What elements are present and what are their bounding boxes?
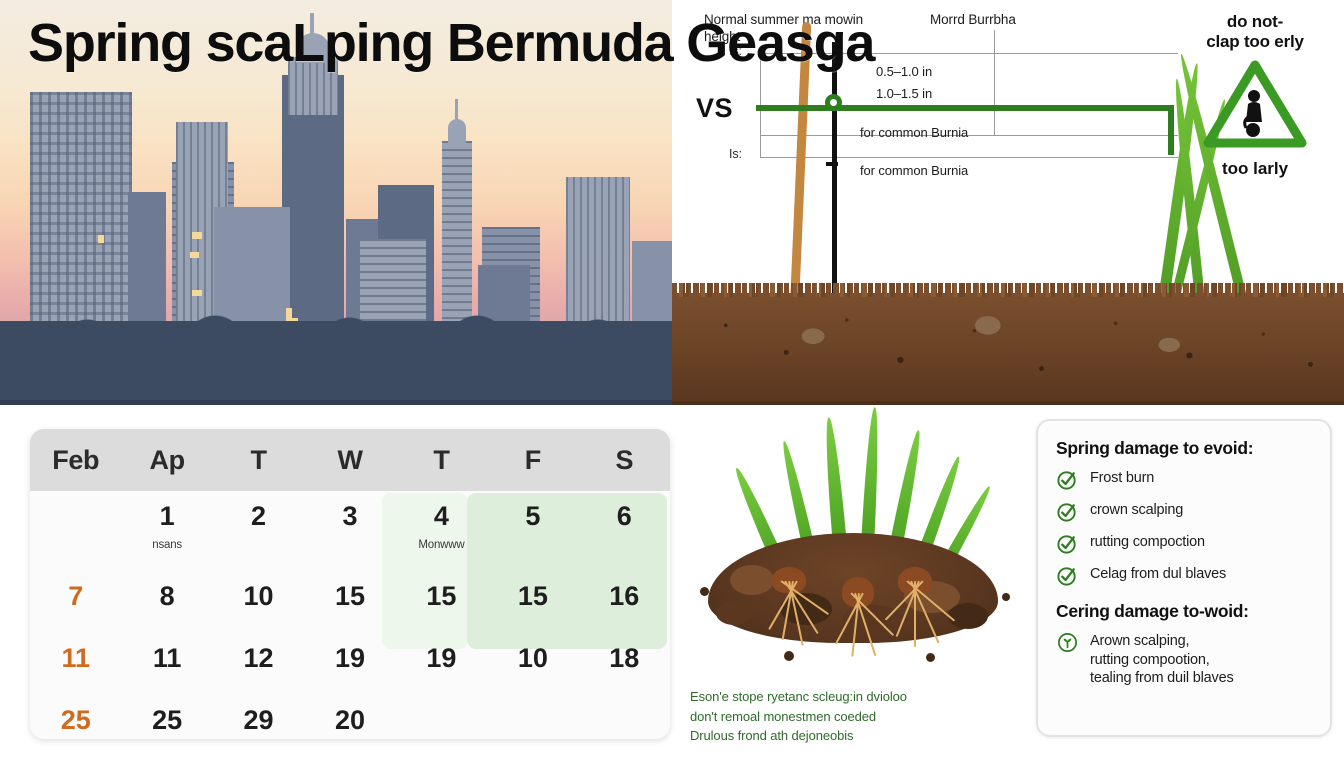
- green-node-marker: [825, 94, 842, 111]
- tower-spire: [455, 99, 458, 121]
- checklist-item-line-3: tealing from duil blaves: [1090, 670, 1234, 686]
- check-circle-icon: [1056, 532, 1079, 555]
- soil-speck: [700, 587, 709, 596]
- calendar-cell[interactable]: 10: [213, 571, 304, 633]
- checklist-item-label: crown scalping: [1090, 500, 1183, 520]
- roots-caption-line-3: Drulous frond ath dejoneobis: [690, 726, 1020, 746]
- black-stem-indicator: [832, 42, 837, 310]
- calendar-day-number: 29: [244, 707, 274, 734]
- grass-roots-illustration: [672, 415, 1032, 685]
- roots-caption-line-2: don't remoal monestmen coeded: [690, 707, 1020, 727]
- black-tick-marker: [826, 162, 838, 166]
- calendar-cell[interactable]: 11: [121, 633, 212, 695]
- calendar-cell[interactable]: 11: [30, 633, 121, 695]
- calendar-day-number: 3: [342, 503, 357, 530]
- calendar-header-cell: Feb: [30, 445, 121, 476]
- calendar-day-number: 11: [153, 645, 182, 672]
- calendar-cell[interactable]: 19: [396, 633, 487, 695]
- calendar-day-number: 10: [244, 583, 274, 610]
- calendar-day-number: 7: [68, 583, 83, 610]
- calendar-header-cell: W: [304, 445, 395, 476]
- calendar-day-number: 25: [61, 707, 91, 734]
- checklist-item-label: Celag from dul blaves: [1090, 564, 1226, 584]
- warning-callout: do not- clap too erly too larly: [1180, 12, 1330, 179]
- checklist-item-label: rutting compoction: [1090, 532, 1205, 552]
- checklist-item-label: Frost burn: [1090, 468, 1154, 488]
- calendar-cell[interactable]: 10: [487, 633, 578, 695]
- checklist-title-secondary: Cering damage to-woid:: [1056, 601, 1314, 622]
- note-label-1: for common Burnia: [860, 125, 968, 141]
- checklist-item-label: Arown scalping, rutting compootion, teal…: [1090, 631, 1234, 688]
- warning-line-1: do not-: [1180, 12, 1330, 32]
- calendar-cell[interactable]: 3: [304, 491, 395, 571]
- lit-window: [192, 232, 202, 239]
- calendar-cell[interactable]: [579, 695, 670, 739]
- calendar-day-number: 2: [251, 503, 266, 530]
- calendar-day-number: 6: [617, 503, 632, 530]
- damage-checklist-card: Spring damage to evoid: Frost burn crown…: [1036, 419, 1332, 737]
- calendar-day-number: 8: [160, 583, 175, 610]
- calendar-cell[interactable]: 15: [396, 571, 487, 633]
- lit-window: [98, 235, 104, 243]
- tower-cap: [448, 119, 466, 143]
- calendar-cell[interactable]: 12: [213, 633, 304, 695]
- calendar-cell[interactable]: 2: [213, 491, 304, 571]
- morrd-burrbha-label: Morrd Burrbha: [930, 12, 1016, 28]
- page-title: Spring scaLping Bermuda Geasga: [28, 16, 874, 70]
- grid-line-mid: [760, 135, 1178, 136]
- calendar-day-number: 11: [61, 645, 90, 672]
- lit-window: [190, 252, 199, 258]
- soil-surface-texture: [672, 283, 1344, 297]
- treeline-silhouette: [0, 275, 672, 345]
- calendar-header-cell: F: [487, 445, 578, 476]
- foreground-ground: [0, 337, 672, 405]
- calendar-cell[interactable]: 8: [121, 571, 212, 633]
- calendar-cell[interactable]: 4 Monwww: [396, 491, 487, 571]
- warning-line-2: clap too erly: [1180, 32, 1330, 52]
- soil-cross-section: [672, 293, 1344, 405]
- check-circle-icon: [1056, 468, 1079, 491]
- calendar-header-cell: Ap: [121, 445, 212, 476]
- calendar-cell[interactable]: 1 nsans: [121, 491, 212, 571]
- calendar-day-number: 19: [426, 645, 456, 672]
- calendar-day-number: 12: [244, 645, 274, 672]
- calendar-cell[interactable]: 25: [30, 695, 121, 739]
- calendar-day-number: 15: [426, 583, 456, 610]
- warning-sub-label: too larly: [1180, 159, 1330, 179]
- calendar-grid: 1 nsans 2 3 4 Monwww 5 6: [30, 491, 670, 739]
- checklist-item[interactable]: Celag from dul blaves: [1056, 564, 1314, 587]
- checklist-item[interactable]: Frost burn: [1056, 468, 1314, 491]
- calendar-cell[interactable]: 5: [487, 491, 578, 571]
- calendar-cell[interactable]: 7: [30, 571, 121, 633]
- calendar-day-number: 18: [609, 645, 639, 672]
- calendar-day-number: 15: [335, 583, 365, 610]
- calendar-cell[interactable]: 19: [304, 633, 395, 695]
- axis-tick-lower: Is:: [729, 147, 742, 162]
- soil-clod: [716, 601, 752, 625]
- calendar-day-note: Monwww: [418, 539, 464, 551]
- calendar-cell[interactable]: 18: [579, 633, 670, 695]
- soil-speck: [1002, 593, 1010, 601]
- calendar-cell[interactable]: 15: [487, 571, 578, 633]
- calendar-day-number: 15: [518, 583, 548, 610]
- warning-triangle-person-icon: [1202, 58, 1308, 150]
- calendar-cell[interactable]: 29: [213, 695, 304, 739]
- calendar-cell[interactable]: 20: [304, 695, 395, 739]
- checklist-item-line-1: Arown scalping,: [1090, 633, 1189, 649]
- calendar-header-row: Feb Ap T W T F S: [30, 429, 670, 491]
- calendar-cell[interactable]: [30, 491, 121, 571]
- checklist-title-primary: Spring damage to evoid:: [1056, 438, 1314, 459]
- spring-calendar[interactable]: Feb Ap T W T F S 1 nsans 2: [30, 429, 670, 739]
- measure-label-2: 1.0–1.5 in: [876, 86, 932, 102]
- calendar-day-number: 5: [525, 503, 540, 530]
- calendar-cell[interactable]: 16: [579, 571, 670, 633]
- calendar-header-cell: T: [396, 445, 487, 476]
- checklist-item-line-2: rutting compootion,: [1090, 652, 1210, 668]
- grid-line-center: [994, 30, 995, 135]
- calendar-cell[interactable]: 6: [579, 491, 670, 571]
- calendar-cell[interactable]: 15: [304, 571, 395, 633]
- calendar-cell[interactable]: [487, 695, 578, 739]
- calendar-day-note: nsans: [152, 539, 182, 551]
- calendar-day-number: 16: [609, 583, 639, 610]
- soil-speck: [926, 653, 935, 662]
- check-circle-icon: [1056, 500, 1079, 523]
- calendar-day-number: 19: [335, 645, 365, 672]
- vs-label: VS: [696, 93, 733, 124]
- soil-clod: [730, 565, 774, 595]
- green-height-line: [756, 105, 1174, 111]
- soil-clod: [948, 603, 988, 629]
- calendar-day-number: 20: [335, 707, 365, 734]
- sprout-circle-icon: [1056, 631, 1079, 654]
- calendar-day-number: 4: [434, 503, 449, 530]
- measure-label-1: 0.5–1.0 in: [876, 64, 932, 80]
- calendar-header-cell: S: [579, 445, 670, 476]
- calendar-day-number: 10: [518, 645, 548, 672]
- calendar-cell[interactable]: [396, 695, 487, 739]
- calendar-day-number: 1: [160, 503, 175, 530]
- checklist-item[interactable]: Arown scalping, rutting compootion, teal…: [1056, 631, 1314, 688]
- roots-caption-line-1: Eson'e stope ryetanc scleug:in dvioloo: [690, 687, 1020, 707]
- soil-speck: [784, 651, 794, 661]
- checklist-item[interactable]: crown scalping: [1056, 500, 1314, 523]
- bottom-content-row: Feb Ap T W T F S 1 nsans 2: [0, 405, 1344, 768]
- calendar-cell[interactable]: 25: [121, 695, 212, 739]
- roots-caption: Eson'e stope ryetanc scleug:in dvioloo d…: [690, 687, 1020, 746]
- calendar-header-cell: T: [213, 445, 304, 476]
- note-label-2: for common Burnia: [860, 163, 968, 179]
- calendar-day-number: 25: [152, 707, 182, 734]
- check-circle-icon: [1056, 564, 1079, 587]
- grid-line-bottom: [760, 157, 1178, 158]
- checklist-item[interactable]: rutting compoction: [1056, 532, 1314, 555]
- green-height-drop: [1168, 105, 1174, 155]
